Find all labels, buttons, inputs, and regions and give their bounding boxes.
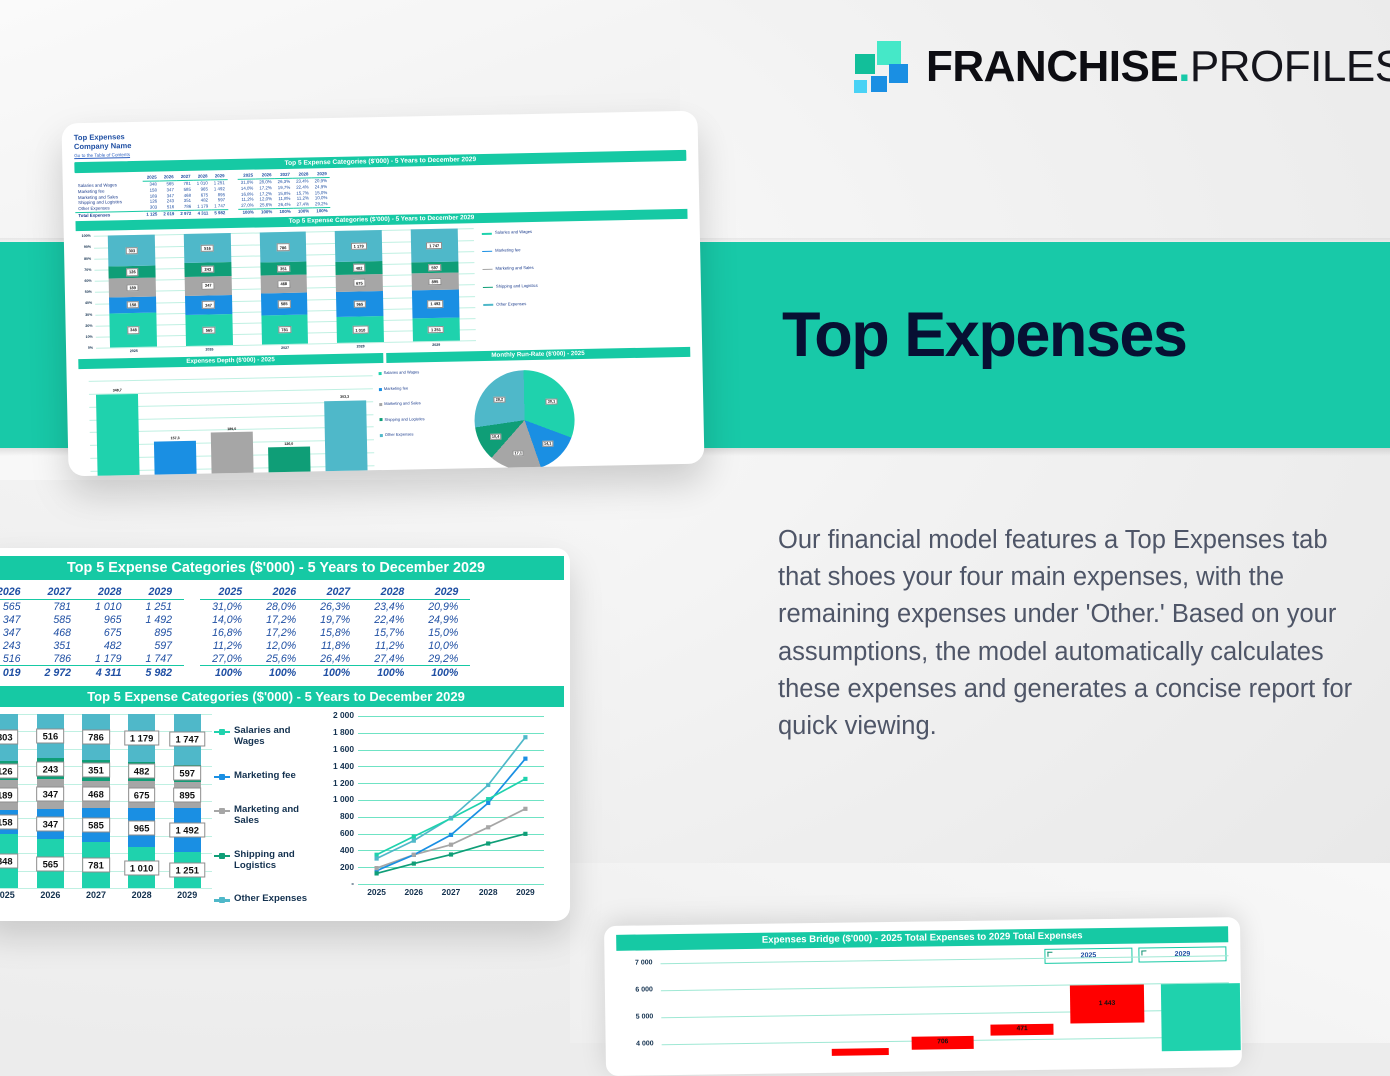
table-expense-percent-large: 20252026 20272028 2029 31,0%28,0%26,3%23… xyxy=(200,586,470,679)
chart-expenses-depth-small: 348,7157,3189,0126,0303,3 xyxy=(79,366,381,477)
bar-label: 347 xyxy=(37,787,65,802)
legend-label: Other Expenses xyxy=(496,302,526,307)
bar-label: 348 xyxy=(127,326,140,334)
legend-item: Salaries and Wages xyxy=(214,726,318,748)
x-tick: 2027 xyxy=(247,346,323,352)
table-row: 3475859651 492 xyxy=(0,613,184,626)
bar xyxy=(96,393,140,476)
bar-label: 1 492 xyxy=(169,822,204,837)
bar xyxy=(324,400,368,476)
bar-label: 243 xyxy=(37,761,65,776)
legend-label: Marketing fee xyxy=(495,248,520,253)
y-tick: 4 000 xyxy=(618,1041,654,1049)
x-tick: 2026 xyxy=(28,890,74,900)
y-tick: 90% xyxy=(76,245,91,249)
legend-swatch xyxy=(214,810,230,812)
bar-label: 348 xyxy=(0,854,19,869)
legend-swatch xyxy=(483,286,493,288)
waterfall-label: 471 xyxy=(991,1025,1054,1033)
bar-label: 347 xyxy=(202,282,215,290)
table-row: 5167861 1791 747 xyxy=(0,652,184,666)
legend-item: Other Expenses xyxy=(483,302,538,308)
chart-waterfall: 4 0005 0006 0007 0007064711 443 xyxy=(616,946,1229,1059)
bar-label: 347 xyxy=(37,817,65,832)
y-tick: 60% xyxy=(77,279,92,283)
x-tick: 2026 xyxy=(172,347,248,353)
bar-label: 158 xyxy=(0,814,19,829)
bar-label: 1 251 xyxy=(428,326,444,334)
table-row: 14,0%17,2%19,7%22,4%24,9% xyxy=(200,613,470,626)
bar-label: 1 179 xyxy=(124,730,159,745)
legend-swatch xyxy=(483,304,493,306)
x-tick: 2029 xyxy=(164,890,210,900)
bar-label: 1 179 xyxy=(351,242,367,250)
legend-item: Marketing fee xyxy=(379,385,469,391)
legend-item: Marketing fee xyxy=(214,771,318,782)
bar-label: 781 xyxy=(82,858,110,873)
x-tick: 2027 xyxy=(73,890,119,900)
legend-swatch xyxy=(214,731,230,733)
bar-label: 1 010 xyxy=(124,860,159,875)
bar-label: 157,3 xyxy=(171,436,180,440)
legend-label: Salaries and Wages xyxy=(495,230,532,236)
legend-swatch xyxy=(380,418,383,421)
table-row: 11,2%12,0%11,8%11,2%10,0% xyxy=(200,639,470,652)
bar-label: 126 xyxy=(126,268,139,276)
legend-item: Shipping and Logistics xyxy=(379,416,469,422)
x-tick: 2029 xyxy=(398,343,474,349)
bar-label: 786 xyxy=(82,730,110,745)
bar-label: 1 747 xyxy=(426,242,442,250)
waterfall-bar xyxy=(832,1048,889,1056)
bar-label: 468 xyxy=(277,280,290,288)
chart-stacked-bar-large: 3481581891263032025565347347243516202678… xyxy=(0,710,214,906)
legend-item: Marketing fee xyxy=(482,248,537,254)
table-expense-percent: 20252026 20272028 2029 31,0%28,0%26,3%23… xyxy=(238,171,331,215)
bar-label: 675 xyxy=(353,279,366,287)
bar-label: 516 xyxy=(37,729,65,744)
x-tick: 2027 xyxy=(432,887,469,897)
legend-item: Marketing and Sales xyxy=(482,266,537,272)
pie-label: 10,4 xyxy=(490,433,502,439)
x-tick: 2029 xyxy=(507,887,544,897)
bar-label: 1 010 xyxy=(352,326,368,334)
bar-label: 351 xyxy=(277,265,290,273)
bar-label: 1 492 xyxy=(427,300,443,308)
legend-label: Marketing fee xyxy=(234,771,296,782)
legend-item: Shipping and Logistics xyxy=(483,284,538,290)
y-tick: 30% xyxy=(77,312,92,316)
bar-label: 1 251 xyxy=(169,862,204,877)
brand-name-thin: PROFILES xyxy=(1190,42,1390,91)
chart-legend-small: Salaries and WagesMarketing feeMarketing… xyxy=(476,224,539,349)
bar-label: 189,0 xyxy=(227,427,236,431)
bar-label: 565 xyxy=(203,326,216,334)
waterfall-label: 706 xyxy=(912,1038,975,1046)
bar-label: 597 xyxy=(173,766,201,781)
bar-label: 303 xyxy=(0,730,19,745)
x-tick: 2026 xyxy=(395,887,432,897)
screenshot-card-expenses-bridge: Expenses Bridge ($'000) - 2025 Total Exp… xyxy=(604,917,1242,1076)
legend-label: Other Expenses xyxy=(385,432,414,437)
legend-item: Shipping and Logistics xyxy=(214,850,318,872)
legend-label: Shipping and Logistics xyxy=(234,850,318,872)
bar-label: 895 xyxy=(429,278,442,286)
legend-swatch xyxy=(379,403,382,406)
line-series-svg xyxy=(318,710,548,906)
y-tick: 50% xyxy=(77,290,92,294)
y-tick: 0% xyxy=(78,346,93,350)
brand-name-bold: FRANCHISE xyxy=(926,42,1178,91)
legend-label: Shipping and Logistics xyxy=(384,417,424,422)
y-tick: 7 000 xyxy=(616,960,652,968)
legend-swatch xyxy=(380,434,383,437)
y-tick: 70% xyxy=(76,268,91,272)
banner-expense-categories-chart-large: Top 5 Expense Categories ($'000) - 5 Yea… xyxy=(0,686,564,707)
legend-label: Shipping and Logistics xyxy=(496,284,538,290)
pie xyxy=(474,370,576,472)
legend-swatch xyxy=(214,899,230,901)
x-tick: 2028 xyxy=(323,344,399,350)
bar-label: 189 xyxy=(126,284,139,292)
bar-label: 189 xyxy=(0,788,19,803)
chart-line-large: -2004006008001 0001 2001 4001 6001 8002 … xyxy=(318,710,548,906)
legend-item: Marketing and Sales xyxy=(214,805,318,827)
y-tick: 10% xyxy=(78,335,93,339)
bar-label: 482 xyxy=(128,764,156,779)
chart-legend-large: Salaries and WagesMarketing feeMarketing… xyxy=(214,710,318,921)
y-tick: 40% xyxy=(77,301,92,305)
bar-label: 675 xyxy=(128,787,156,802)
legend-label: Marketing and Sales xyxy=(234,805,318,827)
table-row: 27,0%25,6%26,4%27,4%29,2% xyxy=(200,652,470,666)
x-tick: 2025 xyxy=(0,890,28,900)
table-row: 347468675895 xyxy=(0,626,184,639)
bar-label: 585 xyxy=(278,300,291,308)
bar-label: 781 xyxy=(278,326,291,334)
banner-expense-categories-large: Top 5 Expense Categories ($'000) - 5 Yea… xyxy=(0,556,564,580)
bar-label: 158 xyxy=(127,301,140,309)
legend-item: Other Expenses xyxy=(214,894,318,905)
bar xyxy=(154,441,197,476)
table-row-total: 2 0192 9724 3115 982 xyxy=(0,666,184,680)
table-expense-values: 20252026 20272028 2029 Salaries and Wage… xyxy=(75,173,229,219)
bar-label: 347 xyxy=(202,301,215,309)
legend-label: Marketing fee xyxy=(384,386,408,391)
legend-swatch xyxy=(214,855,230,857)
bar-label: 303 xyxy=(125,247,138,255)
bar-label: 965 xyxy=(128,820,156,835)
brand-wordmark: FRANCHISE.PROFILES xyxy=(926,45,1390,89)
bar-label: 585 xyxy=(82,818,110,833)
x-tick: 2028 xyxy=(119,890,165,900)
brand-name-dot: . xyxy=(1178,42,1190,91)
x-tick: 2025 xyxy=(358,887,395,897)
bar-label: 126,0 xyxy=(284,442,293,446)
legend-swatch xyxy=(482,251,492,253)
bar-label: 482 xyxy=(353,264,366,272)
y-tick: 6 000 xyxy=(617,987,653,995)
x-tick: 2028 xyxy=(470,887,507,897)
logo-squares-icon xyxy=(851,38,909,96)
legend-label: Marketing and Sales xyxy=(384,401,421,406)
legend-swatch xyxy=(214,776,230,778)
legend-label: Salaries and Wages xyxy=(234,726,318,748)
waterfall-bar xyxy=(1161,983,1241,1051)
bar-label: 348,7 xyxy=(113,388,122,392)
table-row: 243351482597 xyxy=(0,639,184,652)
legend-swatch xyxy=(379,372,382,375)
bar-label: 351 xyxy=(82,763,110,778)
legend-item: Other Expenses xyxy=(380,431,470,437)
screenshot-card-top-expenses: Top Expenses Company Name Go to the Tabl… xyxy=(62,111,705,477)
legend-label: Other Expenses xyxy=(234,894,307,905)
legend-item: Marketing and Sales xyxy=(379,401,469,407)
pie-label: 17,1 xyxy=(512,450,524,456)
legend-swatch xyxy=(379,388,382,391)
y-tick: 20% xyxy=(78,324,93,328)
table-row-total: 100%100%100%100%100% xyxy=(238,207,330,215)
legend-swatch xyxy=(483,269,493,271)
page-title: Top Expenses xyxy=(782,304,1186,367)
chart-pie-small: 30,114,117,110,428,2 xyxy=(468,361,590,476)
y-tick: 80% xyxy=(76,256,91,260)
bar-label: 303,3 xyxy=(340,395,349,399)
table-row-total: 100%100%100%100%100% xyxy=(200,666,470,680)
bar-label: 126 xyxy=(0,763,19,778)
table-row: 16,8%17,2%15,8%15,7%15,0% xyxy=(200,626,470,639)
page-description: Our financial model features a Top Expen… xyxy=(778,522,1353,745)
legend-item: Salaries and Wages xyxy=(379,370,469,376)
bar-label: 516 xyxy=(201,244,214,252)
gridline xyxy=(0,888,212,889)
bar-label: 597 xyxy=(428,264,441,272)
legend-label: Marketing and Sales xyxy=(495,266,533,272)
bar xyxy=(211,432,254,476)
pie-label: 30,1 xyxy=(546,398,558,404)
pie-label: 28,2 xyxy=(494,396,506,402)
bar-label: 565 xyxy=(37,856,65,871)
waterfall-label: 1 443 xyxy=(1070,999,1144,1007)
gridline xyxy=(661,956,1229,965)
y-tick: 100% xyxy=(76,234,91,238)
x-tick: 2025 xyxy=(96,349,172,355)
pie-label: 14,1 xyxy=(542,441,554,447)
legend-item: Salaries and Wages xyxy=(482,230,537,236)
chart-stacked-bar-small: 0%10%20%30%40%50%60%70%80%90%100%3481581… xyxy=(76,226,478,358)
bar-label: 895 xyxy=(173,788,201,803)
bar-label: 1 747 xyxy=(169,732,204,747)
bar-label: 965 xyxy=(353,300,366,308)
brand-logo: FRANCHISE.PROFILES xyxy=(851,38,1390,96)
bar-label: 468 xyxy=(82,787,110,802)
y-tick: 5 000 xyxy=(617,1014,653,1022)
table-row: 5657811 0101 251 xyxy=(0,600,184,614)
bar-label: 786 xyxy=(277,243,290,251)
table-row: 31,0%28,0%26,3%23,4%20,9% xyxy=(200,600,470,614)
legend-label: Salaries and Wages xyxy=(384,371,420,376)
pie-legend-small: Salaries and WagesMarketing feeMarketing… xyxy=(378,364,470,477)
bar-label: 243 xyxy=(201,265,214,273)
legend-swatch xyxy=(482,233,492,235)
table-expense-values-large: 20262027 20282029 5657811 0101 251 34758… xyxy=(0,586,184,679)
gridline xyxy=(89,376,373,383)
screenshot-card-expense-categories: Top 5 Expense Categories ($'000) - 5 Yea… xyxy=(0,548,570,921)
